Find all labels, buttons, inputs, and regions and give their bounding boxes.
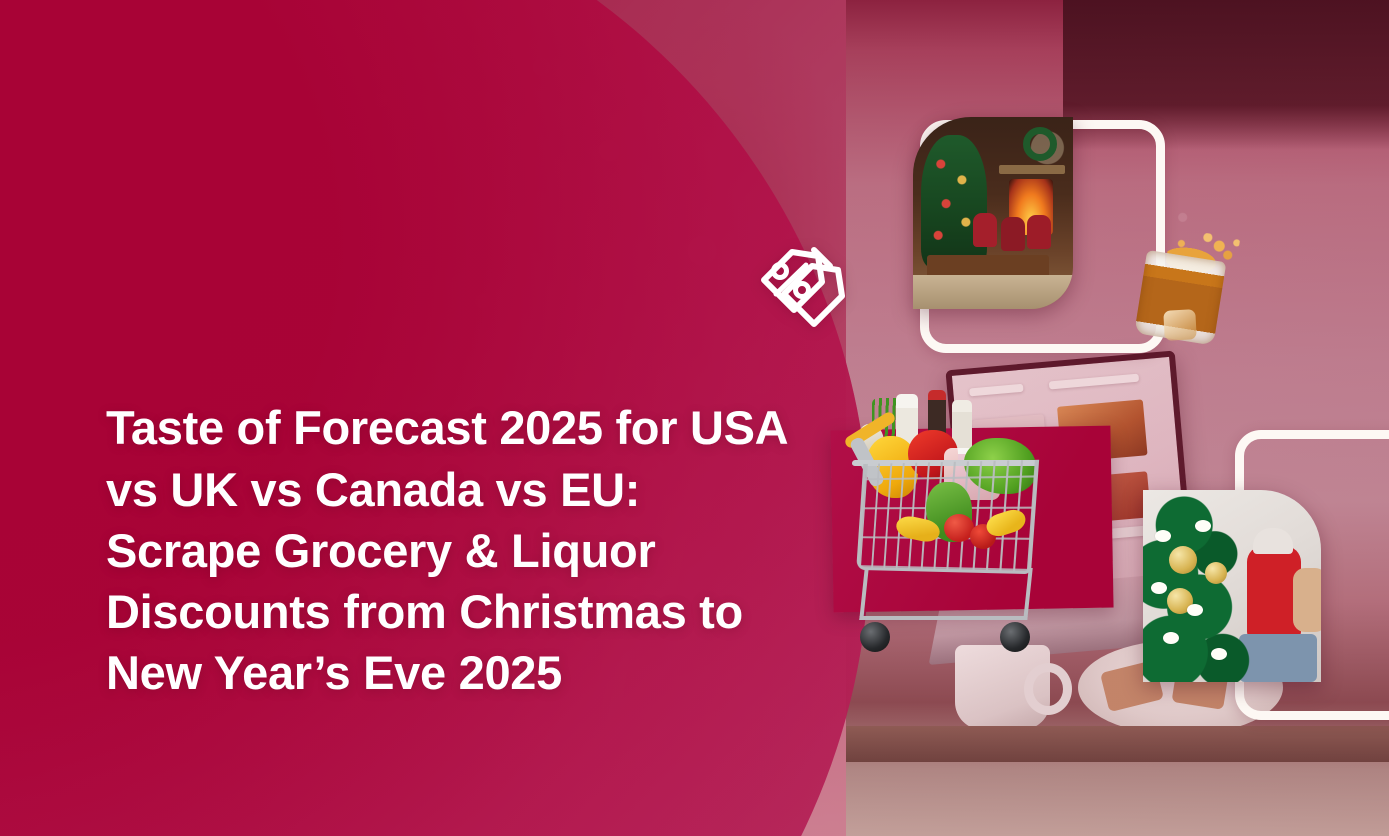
discount-tag-percent-icon bbox=[752, 240, 856, 336]
christmas-tree-family-photo bbox=[1143, 490, 1321, 682]
child-figure bbox=[1001, 217, 1025, 251]
child-figure bbox=[973, 213, 997, 247]
cart-wheel bbox=[1000, 622, 1030, 652]
christmas-tree-small bbox=[921, 135, 987, 267]
second-person-figure bbox=[1293, 568, 1321, 632]
ornament-ball bbox=[1169, 546, 1197, 574]
hero-banner: Taste of Forecast 2025 for USA vs UK vs … bbox=[0, 0, 1389, 836]
page-title: Taste of Forecast 2025 for USA vs UK vs … bbox=[106, 397, 806, 702]
cart-wheel bbox=[860, 622, 890, 652]
ribbon-bow bbox=[1163, 632, 1179, 644]
glass-tumbler bbox=[1134, 250, 1226, 345]
shopping-cart-groceries-image bbox=[838, 390, 1050, 680]
ribbon-bow bbox=[1151, 582, 1167, 594]
wreath-icon bbox=[1023, 127, 1057, 161]
mantle-shelf bbox=[999, 165, 1065, 174]
sofa bbox=[913, 275, 1073, 309]
child-figure bbox=[1027, 215, 1051, 249]
ribbon-bow bbox=[1187, 604, 1203, 616]
ribbon-bow bbox=[1155, 530, 1171, 542]
cart-frame bbox=[859, 568, 1032, 620]
ornament-ball bbox=[1205, 562, 1227, 584]
ribbon-bow bbox=[1195, 520, 1211, 532]
ice-cube bbox=[1163, 309, 1197, 341]
family-by-fireplace-photo bbox=[913, 117, 1073, 309]
ribbon-bow bbox=[1211, 648, 1227, 660]
whiskey-glass-splash-image bbox=[1130, 226, 1236, 349]
